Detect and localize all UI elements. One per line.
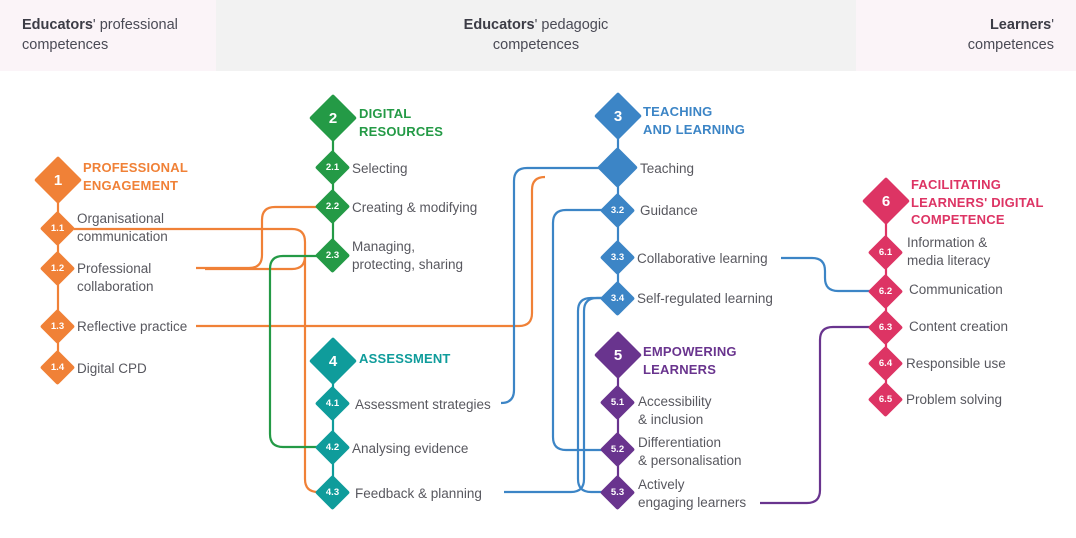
competence-label-3-4: Self-regulated learning xyxy=(637,290,773,308)
competence-node-5-3[interactable]: 5.3 xyxy=(605,480,630,505)
competence-label-4-1: Assessment strategies xyxy=(355,396,491,414)
wire-3-1-to-4-1 xyxy=(501,168,601,403)
competence-node-3-1[interactable]: 3.1 xyxy=(603,153,632,182)
competence-node-6-4[interactable]: 6.4 xyxy=(873,351,898,376)
competence-node-4-2[interactable]: 4.2 xyxy=(320,435,345,460)
area-title-teaching-and-learning: TEACHING AND LEARNING xyxy=(643,103,745,138)
competence-node-5-1[interactable]: 5.1 xyxy=(605,390,630,415)
competence-label-1-2: Professional collaboration xyxy=(77,260,154,296)
competence-label-6-1: Information & media literacy xyxy=(907,234,990,270)
area-node-4[interactable]: 4 xyxy=(316,344,350,378)
competence-node-6-5[interactable]: 6.5 xyxy=(873,387,898,412)
area-node-1[interactable]: 1 xyxy=(41,163,75,197)
competence-node-1-4[interactable]: 1.4 xyxy=(45,355,70,380)
competence-label-3-3: Collaborative learning xyxy=(637,250,768,268)
competence-node-1-2[interactable]: 1.2 xyxy=(45,256,70,281)
area-title-empowering-learners: EMPOWERING LEARNERS xyxy=(643,343,737,378)
wire-1-2-to-2-2 xyxy=(196,207,318,268)
area-title-digital-resources: DIGITAL RESOURCES xyxy=(359,105,443,140)
competence-node-1-3[interactable]: 1.3 xyxy=(45,314,70,339)
competence-node-2-1[interactable]: 2.1 xyxy=(320,155,345,180)
area-node-5[interactable]: 5 xyxy=(601,338,635,372)
competence-node-6-1[interactable]: 6.1 xyxy=(873,240,898,265)
competence-label-5-2: Differentiation & personalisation xyxy=(638,434,742,470)
competence-node-3-4[interactable]: 3.4 xyxy=(605,286,630,311)
digcompedu-framework-diagram: Educators' professional competences Educ… xyxy=(0,0,1076,538)
competence-node-4-3[interactable]: 4.3 xyxy=(320,480,345,505)
area-node-2[interactable]: 2 xyxy=(316,101,350,135)
competence-label-2-2: Creating & modifying xyxy=(352,199,477,217)
competence-node-2-2[interactable]: 2.2 xyxy=(320,194,345,219)
competence-label-4-3: Feedback & planning xyxy=(355,485,482,503)
competence-label-1-1: Organisational communication xyxy=(77,210,168,246)
competence-node-3-2[interactable]: 3.2 xyxy=(605,198,630,223)
competence-label-6-5: Problem solving xyxy=(906,391,1002,409)
area-node-3[interactable]: 3 xyxy=(601,99,635,133)
competence-node-3-3[interactable]: 3.3 xyxy=(605,245,630,270)
competence-label-1-4: Digital CPD xyxy=(77,360,147,378)
competence-label-3-2: Guidance xyxy=(640,202,698,220)
competence-label-3-1: Teaching xyxy=(640,160,694,178)
area-title-facilitating-learners-digital-competence: FACILITATING LEARNERS' DIGITAL COMPETENC… xyxy=(911,176,1044,229)
competence-label-6-2: Communication xyxy=(909,281,1003,299)
competence-node-6-2[interactable]: 6.2 xyxy=(873,279,898,304)
competence-label-2-3: Managing, protecting, sharing xyxy=(352,238,463,274)
competence-label-5-3: Actively engaging learners xyxy=(638,476,746,512)
competence-node-2-3[interactable]: 2.3 xyxy=(320,243,345,268)
competence-label-5-1: Accessibility & inclusion xyxy=(638,393,712,429)
competence-label-1-3: Reflective practice xyxy=(77,318,187,336)
wire-3-4-to-5-3 xyxy=(578,298,604,492)
competence-node-1-1[interactable]: 1.1 xyxy=(45,216,70,241)
competence-node-5-2[interactable]: 5.2 xyxy=(605,437,630,462)
competence-node-6-3[interactable]: 6.3 xyxy=(873,315,898,340)
wire-3-3-to-6-2 xyxy=(781,258,872,291)
competence-node-4-1[interactable]: 4.1 xyxy=(320,391,345,416)
area-title-professional-engagement: PROFESSIONAL ENGAGEMENT xyxy=(83,159,188,194)
wire-5-3-to-6-3 xyxy=(760,327,872,503)
competence-label-2-1: Selecting xyxy=(352,160,408,178)
competence-label-6-4: Responsible use xyxy=(906,355,1006,373)
area-title-assessment: ASSESSMENT xyxy=(359,350,451,368)
area-node-6[interactable]: 6 xyxy=(869,184,903,218)
competence-label-4-2: Analysing evidence xyxy=(352,440,468,458)
competence-label-6-3: Content creation xyxy=(909,318,1008,336)
